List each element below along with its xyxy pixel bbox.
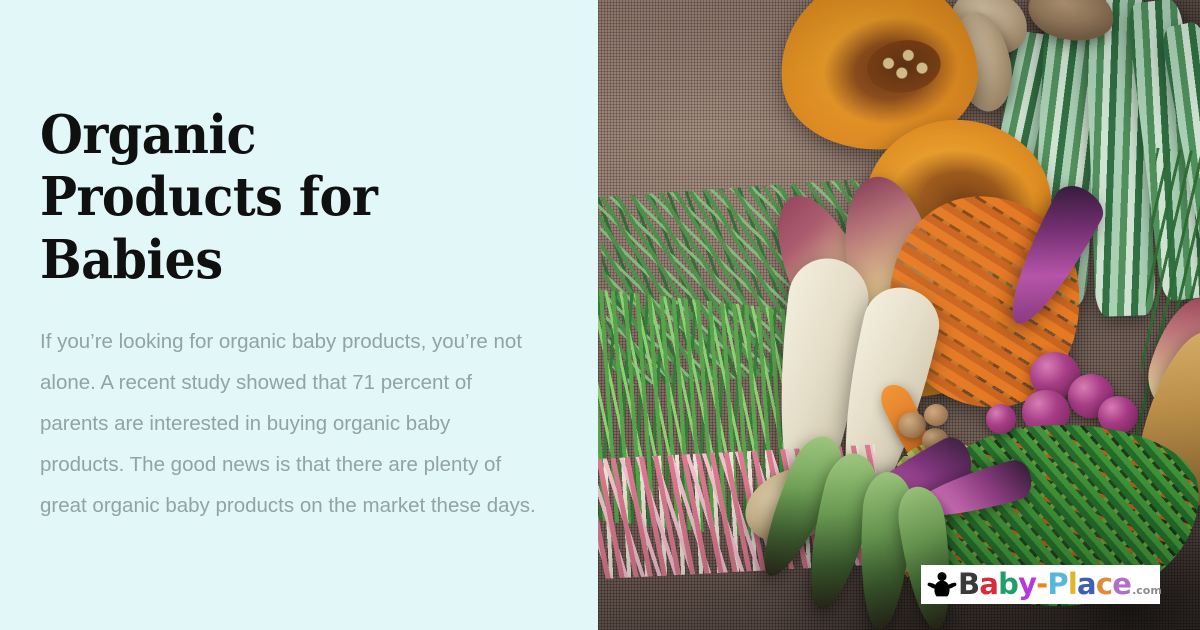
red-shallot	[986, 404, 1016, 434]
body-paragraph: If you’re looking for organic baby produ…	[40, 321, 540, 526]
page-title: Organic Products for Babies	[40, 104, 477, 292]
logo-letter: b	[998, 570, 1018, 599]
walnut	[924, 404, 948, 426]
logo-letter: c	[1096, 570, 1112, 599]
logo-letter: P	[1047, 570, 1067, 599]
logo-letter: a	[979, 570, 998, 599]
logo-letter: l	[1068, 570, 1077, 599]
social-share-card: Organic Products for Babies If you’re lo…	[0, 0, 1200, 630]
logo-wordmark: Baby-Place.com	[958, 570, 1162, 599]
photo-panel	[598, 0, 1200, 630]
logo-letter: a	[1077, 570, 1096, 599]
logo-letter: B	[958, 570, 979, 599]
text-panel: Organic Products for Babies If you’re lo…	[0, 0, 598, 630]
walnut	[898, 412, 926, 438]
logo-letter: -	[1036, 570, 1047, 599]
logo-letter: y	[1018, 570, 1036, 599]
baby-silhouette-icon	[927, 570, 957, 600]
site-logo[interactable]: Baby-Place.com	[921, 565, 1160, 604]
logo-tld: .com	[1132, 585, 1162, 596]
logo-letter: e	[1112, 570, 1131, 599]
